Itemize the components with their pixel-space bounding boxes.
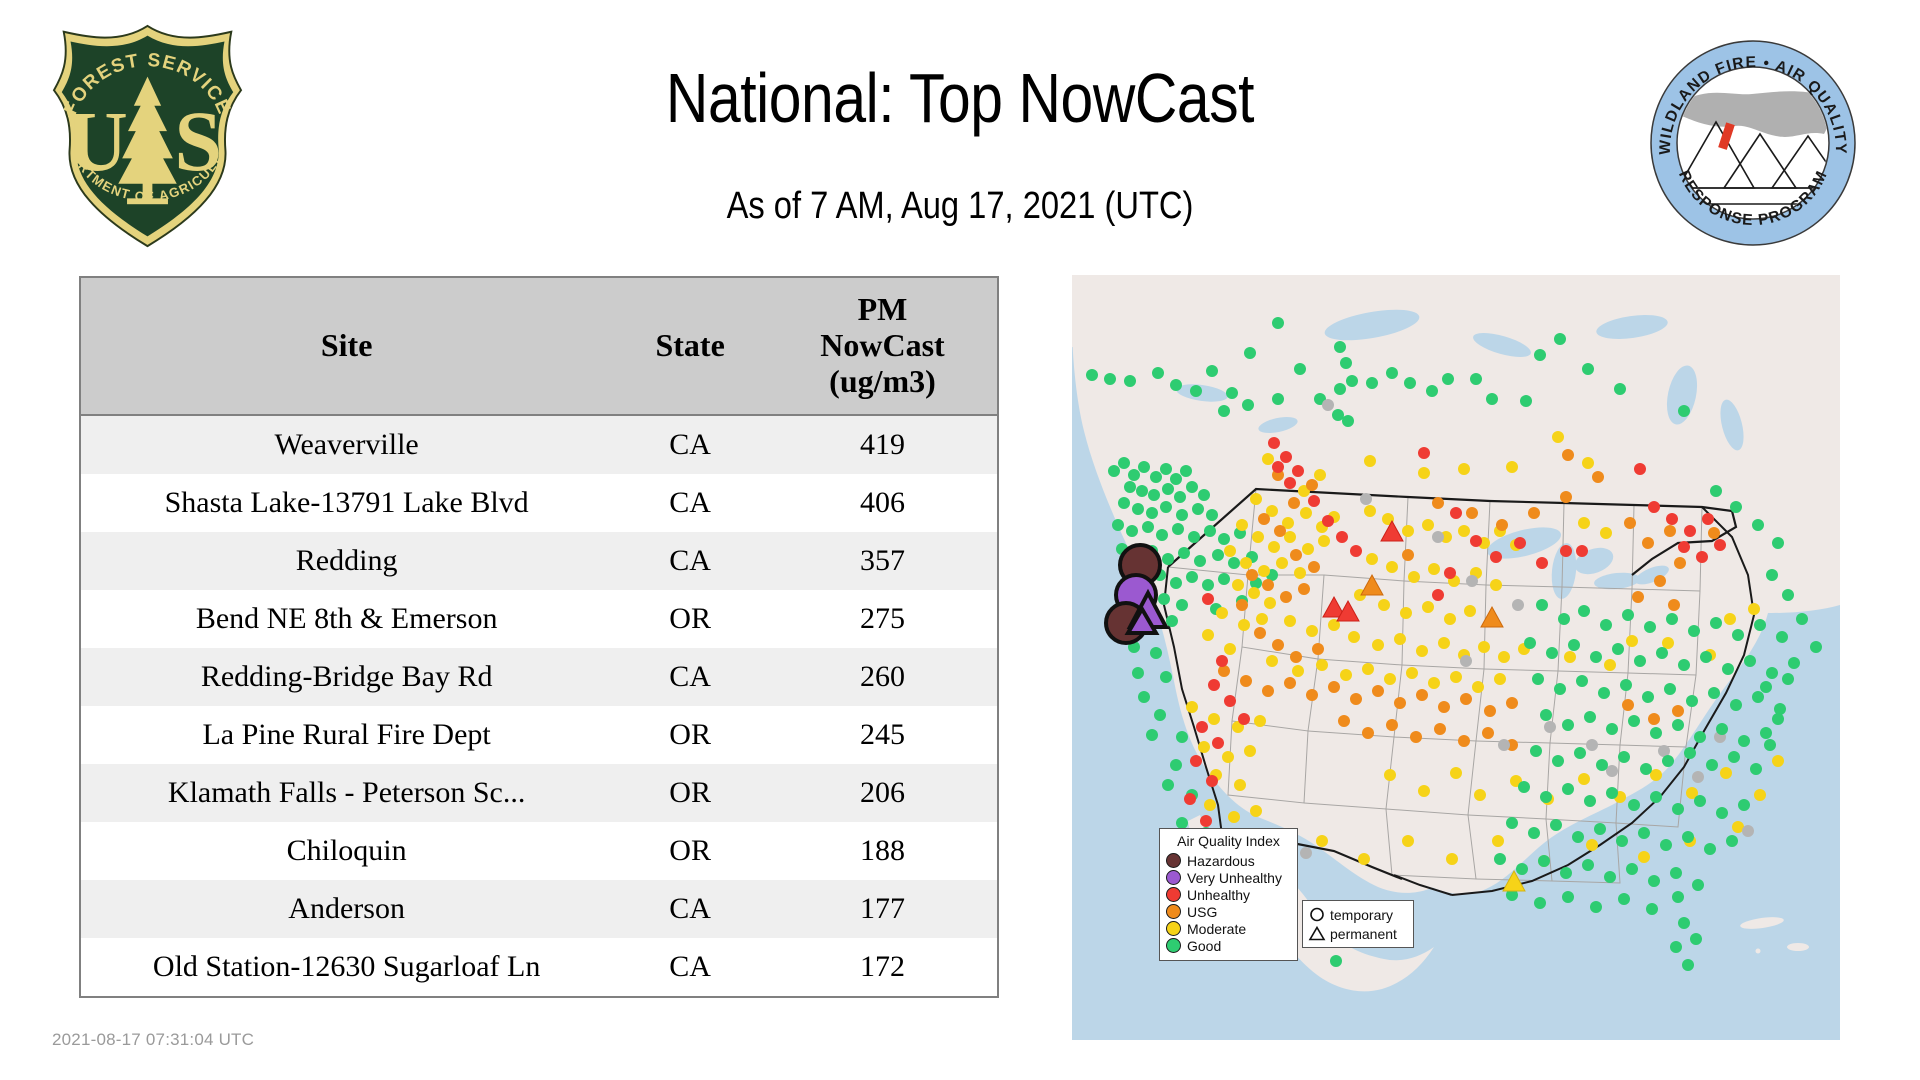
legend-label-permanent: permanent [1330,927,1397,941]
aqi-legend-row: Unhealthy [1166,886,1291,903]
pm-nowcast-cell: 275 [768,590,997,648]
pm-nowcast-cell: 177 [768,880,997,938]
circle-outline-icon [1308,906,1326,923]
pm-nowcast-cell: 406 [768,474,997,532]
aqi-legend-row: Hazardous [1166,852,1291,869]
state-cell: CA [612,532,768,590]
aqi-swatch-icon [1166,853,1181,868]
pm-nowcast-cell: 172 [768,938,997,996]
aqi-legend-row: Good [1166,937,1291,954]
site-type-legend: temporary permanent [1302,900,1414,948]
table-row[interactable]: Redding-Bridge Bay RdCA260 [81,648,997,706]
state-cell: CA [612,880,768,938]
aqi-legend-items: HazardousVery UnhealthyUnhealthyUSGModer… [1166,852,1291,954]
table-row[interactable]: WeavervilleCA419 [81,415,997,474]
aqi-legend-label: Hazardous [1187,854,1255,868]
site-cell: La Pine Rural Fire Dept [81,706,612,764]
site-cell: Shasta Lake-13791 Lake Blvd [81,474,612,532]
aqi-legend-label: Unhealthy [1187,888,1250,902]
aqi-legend-row: Moderate [1166,920,1291,937]
column-header-pm-nowcast[interactable]: PM NowCast (ug/m3) [768,278,997,415]
column-header-state[interactable]: State [612,278,768,415]
top-nowcast-table-panel: Site State PM NowCast (ug/m3) Weavervill… [79,276,999,998]
aqi-legend-label: Moderate [1187,922,1246,936]
state-cell: OR [612,590,768,648]
site-cell: Anderson [81,880,612,938]
column-header-site[interactable]: Site [81,278,612,415]
triangle-outline-icon [1308,925,1326,942]
table-row[interactable]: ChiloquinOR188 [81,822,997,880]
aqi-legend-row: USG [1166,903,1291,920]
table-row[interactable]: Shasta Lake-13791 Lake BlvdCA406 [81,474,997,532]
pm-nowcast-line1: PM [858,291,908,327]
pm-nowcast-cell: 188 [768,822,997,880]
table-row[interactable]: Klamath Falls - Peterson Sc...OR206 [81,764,997,822]
top-nowcast-table: Site State PM NowCast (ug/m3) Weavervill… [81,278,997,996]
aqi-legend-title: Air Quality Index [1166,833,1291,849]
table-row[interactable]: Old Station-12630 Sugarloaf LnCA172 [81,938,997,996]
generated-timestamp: 2021-08-17 07:31:04 UTC [52,1030,254,1050]
table-row[interactable]: ReddingCA357 [81,532,997,590]
state-cell: OR [612,822,768,880]
aqi-swatch-icon [1166,904,1181,919]
site-cell: Redding-Bridge Bay Rd [81,648,612,706]
site-cell: Old Station-12630 Sugarloaf Ln [81,938,612,996]
table-row[interactable]: La Pine Rural Fire DeptOR245 [81,706,997,764]
state-cell: CA [612,938,768,996]
state-cell: OR [612,706,768,764]
state-cell: OR [612,764,768,822]
aqi-legend-label: USG [1187,905,1217,919]
table-header-row: Site State PM NowCast (ug/m3) [81,278,997,415]
state-cell: CA [612,648,768,706]
pm-nowcast-line2: NowCast [820,327,944,363]
aqi-swatch-icon [1166,921,1181,936]
national-aqi-map[interactable]: Air Quality Index HazardousVery Unhealth… [1072,275,1840,1040]
site-cell: Chiloquin [81,822,612,880]
usfs-letter-u: U [66,94,128,189]
aqi-swatch-icon [1166,938,1181,953]
legend-row-permanent: permanent [1308,924,1408,943]
site-cell: Klamath Falls - Peterson Sc... [81,764,612,822]
pm-nowcast-cell: 245 [768,706,997,764]
pm-nowcast-cell: 260 [768,648,997,706]
pm-nowcast-cell: 357 [768,532,997,590]
state-cell: CA [612,415,768,474]
page-subtitle: As of 7 AM, Aug 17, 2021 (UTC) [134,185,1785,228]
site-cell: Weaverville [81,415,612,474]
table-body: WeavervilleCA419Shasta Lake-13791 Lake B… [81,415,997,996]
aqi-swatch-icon [1166,870,1181,885]
page-title: National: Top NowCast [154,58,1767,138]
legend-row-temporary: temporary [1308,905,1408,924]
aqi-legend-row: Very Unhealthy [1166,869,1291,886]
aqi-legend: Air Quality Index HazardousVery Unhealth… [1159,828,1298,961]
pm-nowcast-cell: 206 [768,764,997,822]
aqi-swatch-icon [1166,887,1181,902]
pm-nowcast-line3: (ug/m3) [829,363,936,399]
site-cell: Redding [81,532,612,590]
table-row[interactable]: AndersonCA177 [81,880,997,938]
pm-nowcast-cell: 419 [768,415,997,474]
table-header: Site State PM NowCast (ug/m3) [81,278,997,415]
table-row[interactable]: Bend NE 8th & EmersonOR275 [81,590,997,648]
aqi-legend-label: Good [1187,939,1221,953]
site-cell: Bend NE 8th & Emerson [81,590,612,648]
state-cell: CA [612,474,768,532]
legend-label-temporary: temporary [1330,908,1393,922]
aqi-legend-label: Very Unhealthy [1187,871,1282,885]
